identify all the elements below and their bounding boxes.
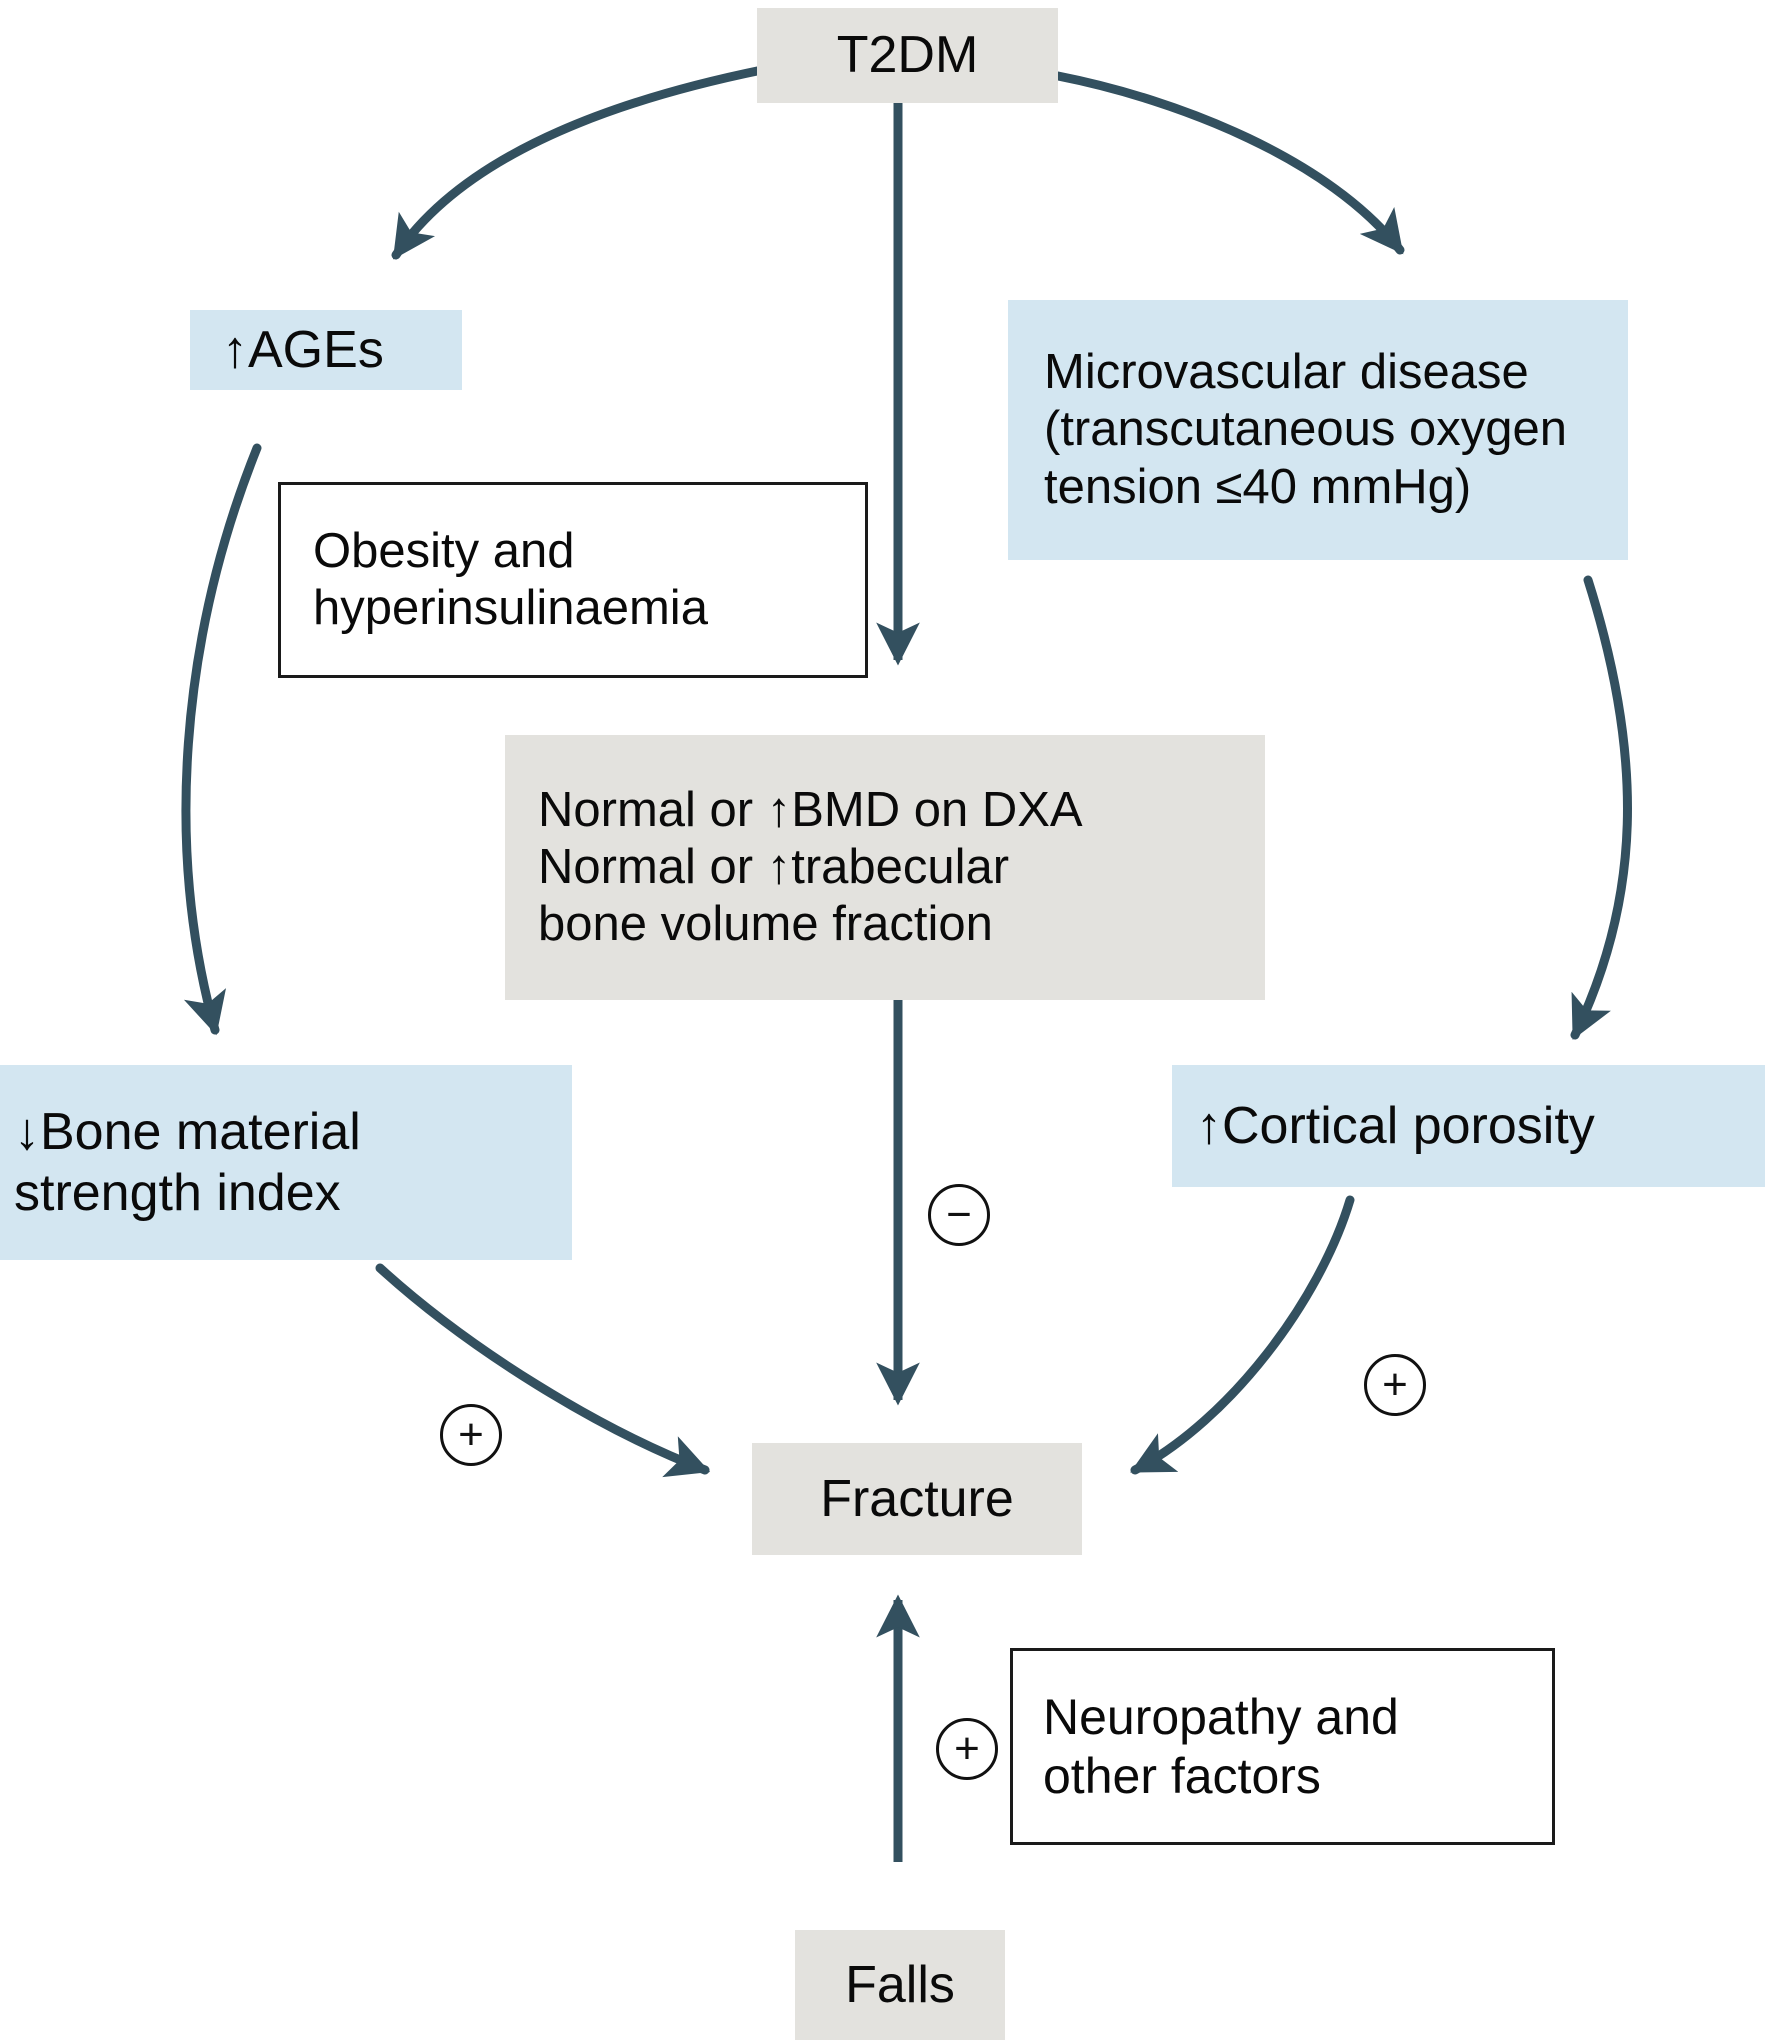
- edge-ages-to-bmsi: [186, 448, 257, 1030]
- node-ages[interactable]: ↑AGEs: [190, 310, 462, 390]
- edge-microvascular-to-cortical: [1575, 580, 1627, 1035]
- node-cortical-porosity[interactable]: ↑Cortical porosity: [1172, 1065, 1765, 1187]
- node-falls-label: Falls: [795, 1955, 1005, 2016]
- node-t2dm-label: T2DM: [757, 25, 1058, 86]
- node-obesity-hyperinsulinaemia[interactable]: Obesity and hyperinsulinaemia: [278, 482, 868, 678]
- sign-plus-cortical-to-fracture: +: [1364, 1354, 1426, 1416]
- node-neuropathy-other-factors[interactable]: Neuropathy and other factors: [1010, 1648, 1555, 1845]
- node-microvascular-disease[interactable]: Microvascular disease (transcutaneous ox…: [1008, 300, 1628, 560]
- node-obesity-hyperinsulinaemia-label: Obesity and hyperinsulinaemia: [313, 523, 855, 638]
- edge-bmsi-to-fracture: [380, 1268, 705, 1470]
- edge-t2dm-to-ages: [396, 70, 762, 255]
- node-fracture[interactable]: Fracture: [752, 1443, 1082, 1555]
- node-t2dm[interactable]: T2DM: [757, 8, 1058, 103]
- sign-minus-bmd-to-fracture-symbol: −: [946, 1193, 972, 1237]
- node-bmd-dxa[interactable]: Normal or ↑BMD on DXA Normal or ↑trabecu…: [505, 735, 1265, 1000]
- node-cortical-porosity-label: ↑Cortical porosity: [1196, 1096, 1765, 1157]
- node-falls[interactable]: Falls: [795, 1930, 1005, 2040]
- node-microvascular-disease-label: Microvascular disease (transcutaneous ox…: [1044, 344, 1618, 516]
- node-bone-material-strength-index[interactable]: ↓Bone material strength index: [0, 1065, 572, 1260]
- edge-cortical-to-fracture: [1135, 1200, 1350, 1470]
- diagram-canvas: T2DM ↑AGEs Microvascular disease (transc…: [0, 0, 1765, 2040]
- sign-minus-bmd-to-fracture: −: [928, 1184, 990, 1246]
- edge-t2dm-to-microvascular: [1058, 76, 1400, 250]
- node-fracture-label: Fracture: [752, 1469, 1082, 1530]
- node-neuropathy-other-factors-label: Neuropathy and other factors: [1043, 1688, 1542, 1805]
- node-bmd-dxa-label: Normal or ↑BMD on DXA Normal or ↑trabecu…: [538, 782, 1255, 954]
- sign-plus-bmsi-to-fracture-symbol: +: [458, 1413, 484, 1457]
- sign-plus-falls-to-fracture: +: [936, 1718, 998, 1780]
- sign-plus-cortical-to-fracture-symbol: +: [1382, 1363, 1408, 1407]
- sign-plus-bmsi-to-fracture: +: [440, 1404, 502, 1466]
- sign-plus-falls-to-fracture-symbol: +: [954, 1727, 980, 1771]
- node-bone-material-strength-index-label: ↓Bone material strength index: [14, 1102, 564, 1224]
- node-ages-label: ↑AGEs: [222, 320, 462, 381]
